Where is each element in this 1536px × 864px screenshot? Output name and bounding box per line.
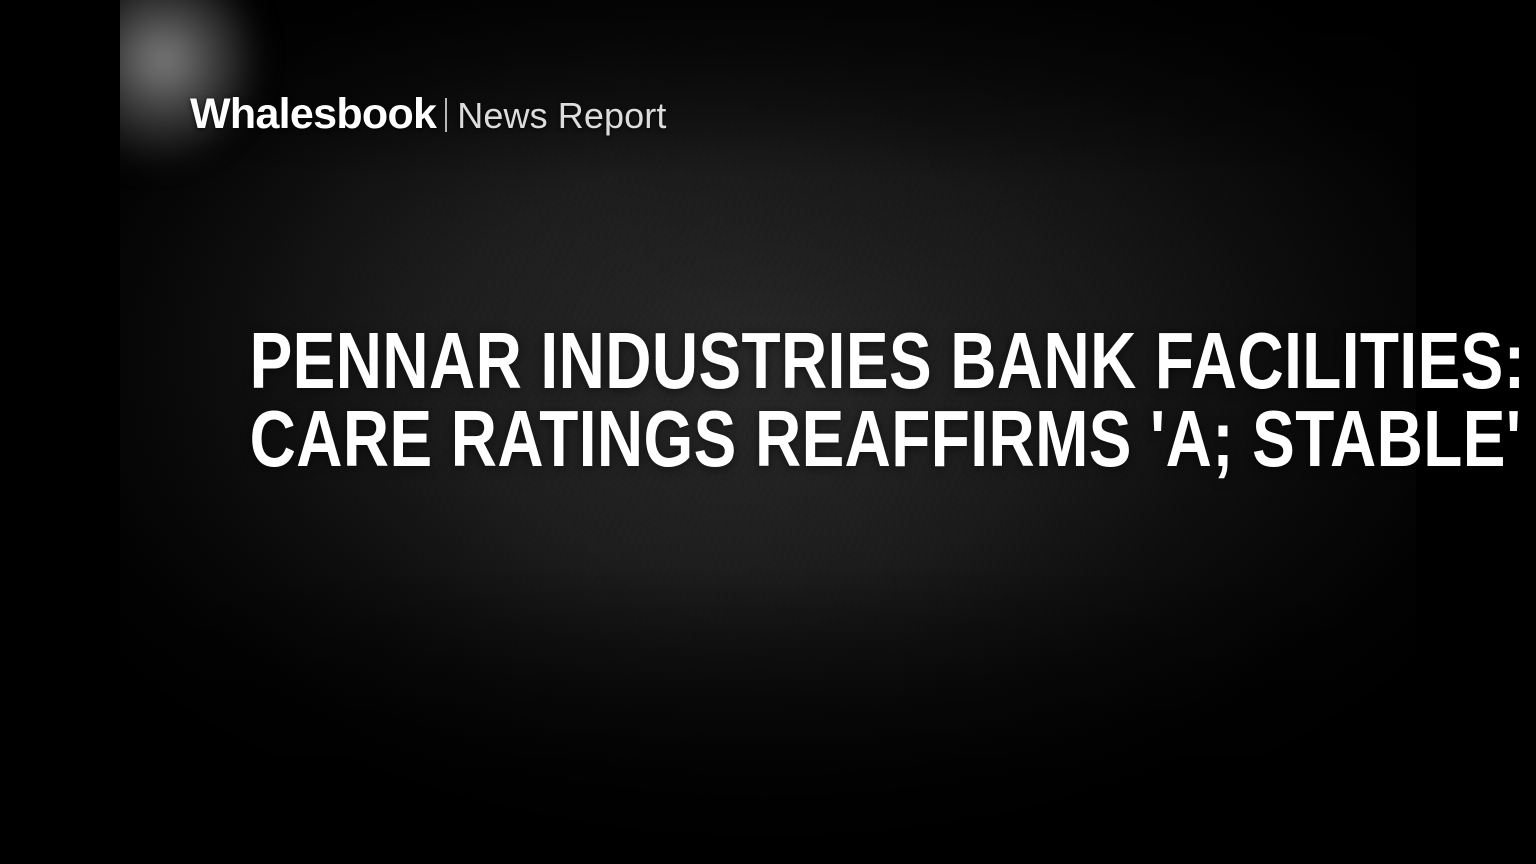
news-card: Whalesbook News Report PENNAR INDUSTRIES… — [0, 0, 1536, 864]
brand-divider — [445, 98, 447, 132]
left-letterbox-bar — [0, 0, 120, 864]
headline-line-1: PENNAR INDUSTRIES BANK FACILITIES: — [250, 322, 1287, 400]
brand-lockup: Whalesbook News Report — [190, 93, 666, 136]
headline: PENNAR INDUSTRIES BANK FACILITIES: CARE … — [120, 322, 1416, 477]
bottom-fade-overlay — [120, 564, 1416, 864]
brand-section-label: News Report — [457, 98, 666, 134]
headline-line-2: CARE RATINGS REAFFIRMS 'A; STABLE' — [250, 400, 1287, 478]
brand-name: Whalesbook — [190, 93, 436, 136]
